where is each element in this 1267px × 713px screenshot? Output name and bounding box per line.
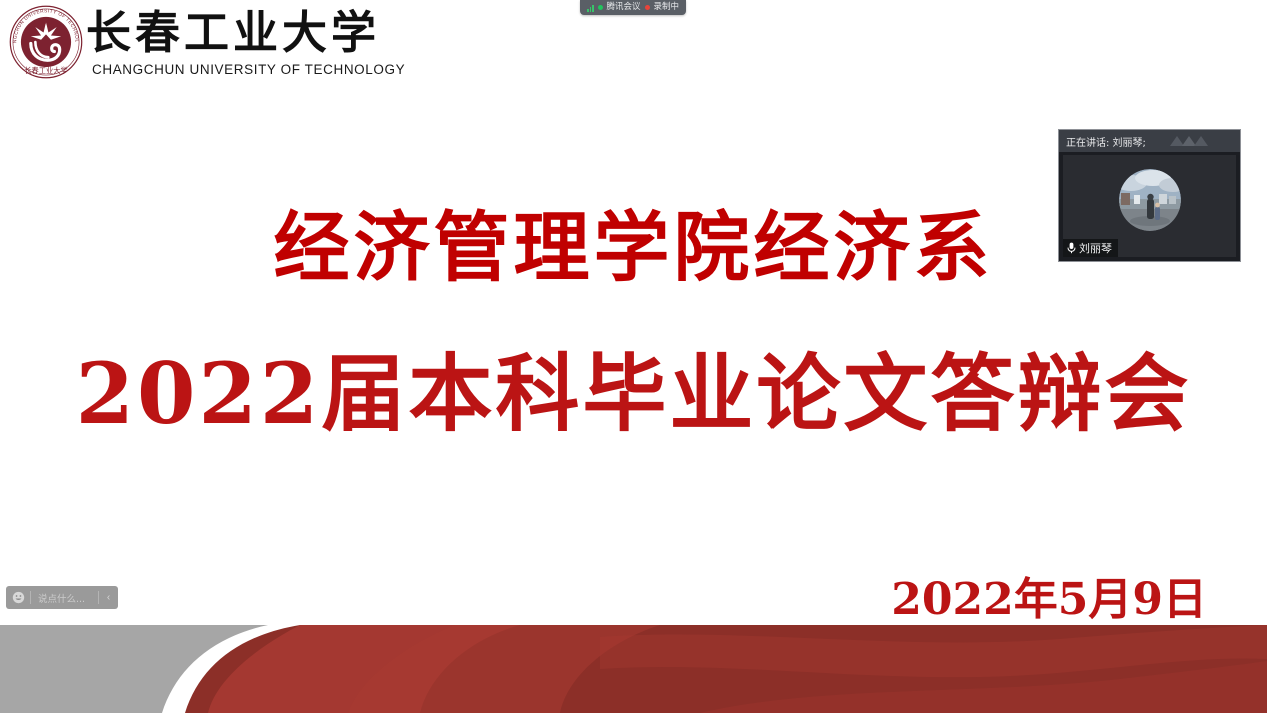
signal-bars-icon [587, 4, 594, 12]
svg-text:1952: 1952 [42, 22, 50, 26]
chat-placeholder-text[interactable]: 说点什么... [31, 591, 98, 605]
meeting-watermark-icon [1168, 133, 1210, 148]
university-logo-block: CHANGCHUN UNIVERSITY OF TECHNOLOGY 1952 … [6, 2, 406, 84]
participant-name-tag: 刘丽琴 [1063, 239, 1118, 257]
participant-avatar [1119, 169, 1181, 231]
university-wordmark-english: CHANGCHUN UNIVERSITY OF TECHNOLOGY [92, 62, 405, 77]
video-thumbnail-panel[interactable]: 正在讲话: 刘丽琴; [1058, 129, 1241, 262]
slide-bottom-decoration [0, 625, 1267, 713]
microphone-icon [1067, 242, 1076, 254]
chat-input-bar[interactable]: 说点什么... ‹ [6, 586, 118, 609]
recording-label: 录制中 [654, 3, 680, 12]
chevron-left-icon[interactable]: ‹ [99, 586, 118, 609]
slide-title-line-2: 2022届本科毕业论文答辩会 [0, 327, 1267, 448]
svg-text:长春工业大学: 长春工业大学 [86, 6, 380, 58]
meeting-app-label: 腾讯会议 [607, 3, 641, 12]
university-wordmark-chinese: 长春工业大学 [86, 6, 391, 58]
red-dot-icon [645, 5, 650, 10]
emoji-smiley-icon[interactable] [6, 586, 30, 609]
video-stage: 刘丽琴 [1063, 155, 1236, 257]
svg-text:长春工业大学: 长春工业大学 [24, 66, 67, 75]
participant-name: 刘丽琴 [1079, 243, 1112, 254]
meeting-status-bar[interactable]: 腾讯会议 录制中 [580, 0, 686, 15]
slide-date: 2022年5月9日 [891, 563, 1207, 627]
video-panel-header: 正在讲话: 刘丽琴; [1059, 130, 1240, 152]
university-emblem-icon: CHANGCHUN UNIVERSITY OF TECHNOLOGY 1952 … [8, 4, 84, 80]
presentation-slide: CHANGCHUN UNIVERSITY OF TECHNOLOGY 1952 … [0, 0, 1267, 713]
speaking-now-label: 正在讲话: 刘丽琴; [1066, 134, 1146, 149]
green-dot-icon [598, 5, 603, 10]
